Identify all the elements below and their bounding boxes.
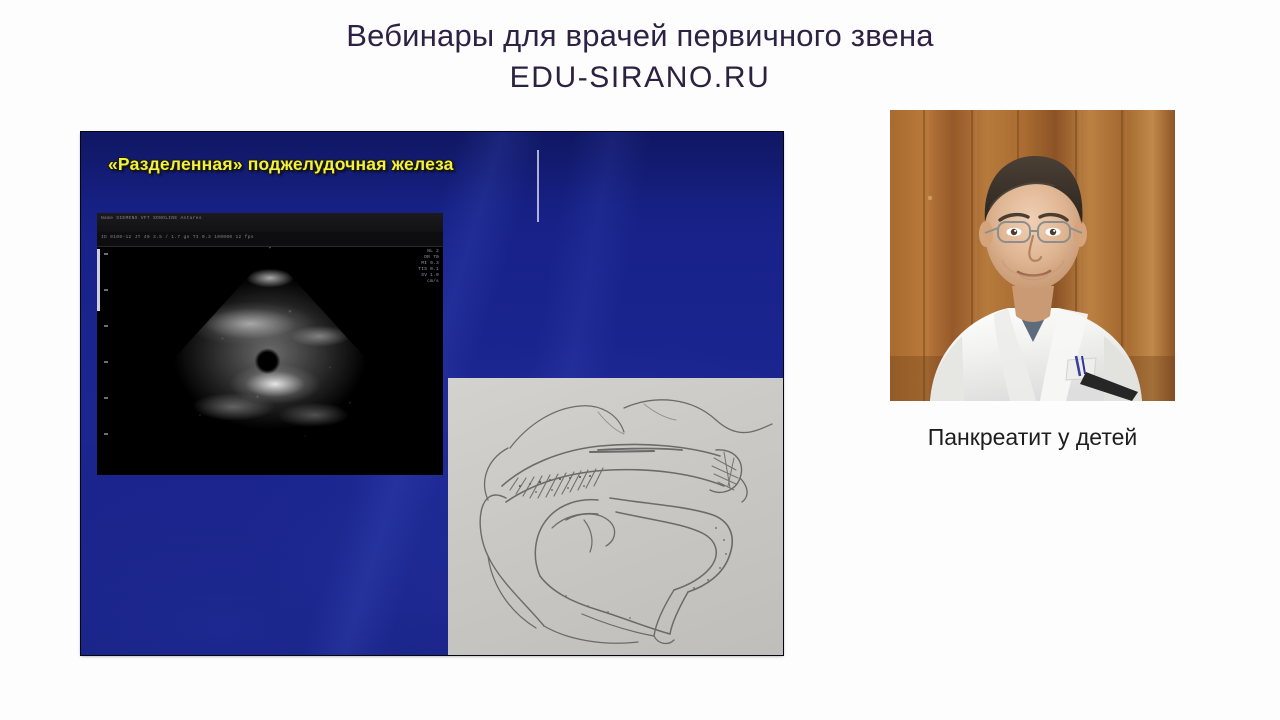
ultrasound-gain-bar [97, 249, 100, 311]
presentation-slide[interactable]: «Разделенная» поджелудочная железа Name … [81, 132, 783, 655]
header-title-line1: Вебинары для врачей первичного звена [0, 16, 1280, 56]
text-cursor-icon [537, 150, 539, 222]
anatomy-drawing-svg [448, 378, 783, 655]
ultrasound-speckle-texture [145, 253, 395, 461]
anatomy-drawing [448, 378, 783, 655]
slide-title: «Разделенная» поджелудочная железа [108, 154, 454, 175]
ultrasound-image: Name SIEMENS VF7 SONOLINE Antares ID 010… [97, 213, 443, 475]
header-title-line2: EDU-SIRANO.RU [0, 58, 1280, 98]
ultrasound-readout: NL 2 DR 70 MI 0.3 TIS 0.1 SV 1.0 cm/s [397, 249, 439, 285]
speaker-photo [890, 110, 1175, 401]
ultrasound-sector-fan [145, 253, 395, 461]
ultrasound-header-row1: Name SIEMENS VF7 SONOLINE Antares [101, 216, 202, 221]
ultrasound-header-row2: ID 0100-12 JT 40 3.5 / 1.7 gn TI 0.3 100… [101, 235, 254, 240]
ultrasound-depth-marker: + [269, 247, 271, 251]
page-header: Вебинары для врачей первичного звена EDU… [0, 16, 1280, 98]
speaker-caption: Панкреатит у детей [890, 424, 1175, 451]
speaker-photo-svg [890, 110, 1175, 401]
ultrasound-readout-line: cm/s [397, 279, 439, 285]
ultrasound-depth-scale [102, 249, 112, 459]
